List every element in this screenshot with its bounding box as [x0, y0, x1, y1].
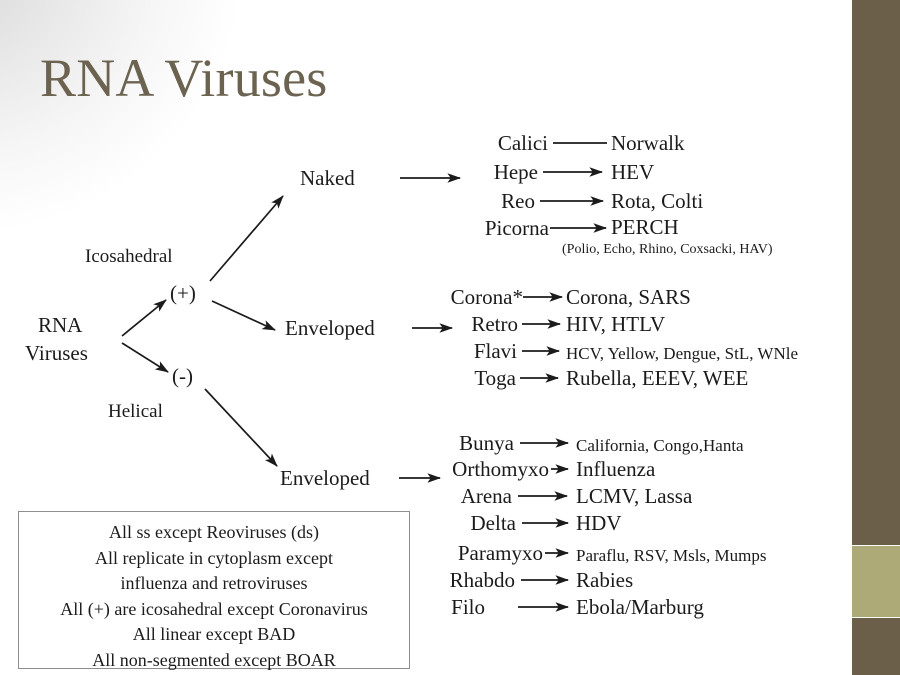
family-examples: Paraflu, RSV, Msls, Mumps: [576, 544, 767, 568]
sidebar-band-dark-top: [852, 0, 900, 545]
picorna-footnote: (Polio, Echo, Rhino, Coxsacki, HAV): [562, 238, 773, 262]
summary-line: influenza and retroviruses: [19, 571, 409, 597]
family-examples: Corona, SARS: [566, 285, 691, 309]
family-name: Picorna: [485, 216, 549, 240]
family-examples: PERCH: [611, 215, 679, 239]
capsid-label-icosahedral: Icosahedral: [85, 245, 173, 269]
family-name: Hepe: [494, 160, 538, 184]
slide-canvas: RNA Viruses: [0, 0, 900, 675]
family-examples: Norwalk: [611, 131, 684, 155]
family-name: Corona*: [451, 285, 523, 309]
family-examples: HEV: [611, 160, 654, 184]
family-examples: California, Congo,Hanta: [576, 434, 744, 458]
family-examples: Rubella, EEEV, WEE: [566, 366, 748, 390]
group-label-enveloped-negative: Enveloped: [280, 466, 370, 490]
family-name: Paramyxo: [458, 541, 543, 565]
decorative-sidebar: [844, 0, 900, 675]
summary-line: All ss except Reoviruses (ds): [19, 520, 409, 546]
group-label-enveloped-positive: Enveloped: [285, 316, 375, 340]
page-title: RNA Viruses: [40, 46, 328, 110]
family-examples: Ebola/Marburg: [576, 595, 704, 619]
sidebar-band-dark-bottom: [852, 618, 900, 675]
family-examples: Rabies: [576, 568, 633, 592]
family-name: Calici: [498, 131, 548, 155]
family-name: Reo: [501, 189, 535, 213]
root-label-line2: Viruses: [25, 341, 88, 365]
summary-line: All (+) are icosahedral except Coronavir…: [19, 597, 409, 623]
family-name: Orthomyxo: [452, 457, 549, 481]
family-name: Bunya: [459, 431, 514, 455]
family-name: Flavi: [474, 339, 517, 363]
capsid-label-helical: Helical: [108, 400, 163, 424]
sidebar-band-khaki: [852, 546, 900, 617]
family-name: Retro: [471, 312, 518, 336]
branch-negative-symbol: (-): [172, 364, 193, 388]
family-name: Filo: [451, 595, 485, 619]
family-name: Delta: [471, 511, 516, 535]
family-examples: HIV, HTLV: [566, 312, 665, 336]
summary-line: All non-segmented except BOAR: [19, 648, 409, 674]
family-name: Rhabdo: [450, 568, 515, 592]
summary-box: All ss except Reoviruses (ds) All replic…: [18, 511, 410, 669]
root-label-line1: RNA: [38, 313, 82, 337]
group-label-naked: Naked: [300, 166, 355, 190]
family-name: Toga: [474, 366, 516, 390]
family-examples: HDV: [576, 511, 622, 535]
family-examples: Influenza: [576, 457, 655, 481]
family-examples: HCV, Yellow, Dengue, StL, WNle: [566, 342, 798, 366]
branch-positive-symbol: (+): [170, 281, 196, 305]
family-examples: Rota, Colti: [611, 189, 703, 213]
family-name: Arena: [461, 484, 512, 508]
family-examples: LCMV, Lassa: [576, 484, 692, 508]
summary-line: All linear except BAD: [19, 622, 409, 648]
summary-line: All replicate in cytoplasm except: [19, 546, 409, 572]
